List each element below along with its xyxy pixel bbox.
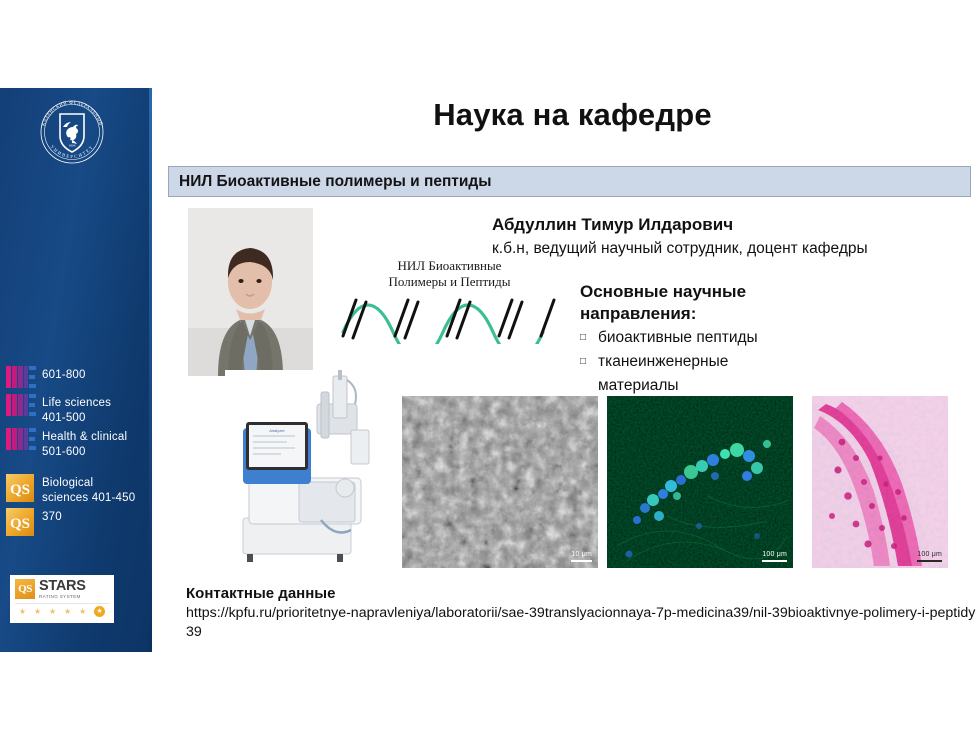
directions-heading: Основные научные направления:	[580, 281, 810, 325]
ranking-row: QS 370	[6, 507, 152, 536]
qs-stars-title: STARS	[39, 579, 86, 594]
lab-logo-line2: Полимеры и Пептиды	[332, 274, 567, 290]
qs-mark-icon: QS	[15, 579, 35, 599]
kfu-emblem: КАЗАНСКИЙ ФЕДЕРАЛЬНЫЙ УНИВЕРСИТЕТ 1804	[36, 96, 108, 168]
qs-logo-icon: QS	[6, 474, 34, 502]
ranking-label: 370	[42, 507, 62, 525]
contact-heading: Контактные данные	[186, 585, 335, 602]
portrait-photo	[188, 208, 313, 376]
qs-stars-header: QS STARS RATING SYSTEM	[15, 579, 109, 599]
qs-stars-badge: QS STARS RATING SYSTEM ★ ★ ★ ★ ★ ★	[10, 575, 114, 623]
direction-label: тканеинженерные материалы	[598, 350, 910, 398]
the-logo-icon	[6, 366, 36, 388]
person-name: Абдуллин Тимур Илдарович	[492, 215, 733, 235]
the-logo-wrap	[6, 393, 42, 416]
scalebar-label: 100 μm	[762, 550, 787, 562]
page-title: Наука на кафедре	[175, 97, 970, 133]
star-icon: ★	[34, 608, 41, 616]
svg-text:QS: QS	[10, 516, 30, 532]
rankings-list: 601-800 Life sciences 401-500	[6, 365, 152, 538]
ranking-row: Life sciences 401-500	[6, 393, 152, 425]
the-logo-icon	[6, 394, 36, 416]
direction-item: □ биоактивные пептиды	[580, 326, 910, 350]
ranking-label: Life sciences 401-500	[42, 393, 111, 425]
qs-logo-icon: QS	[6, 508, 34, 536]
sidebar-panel: КАЗАНСКИЙ ФЕДЕРАЛЬНЫЙ УНИВЕРСИТЕТ 1804	[0, 88, 152, 652]
qs-logo-wrap: QS	[6, 473, 42, 502]
lab-logo-line1: НИЛ Биоактивные	[332, 258, 567, 274]
person-role: к.б.н, ведущий научный сотрудник, доцент…	[492, 240, 868, 258]
qs-stars-wordmark: STARS RATING SYSTEM	[39, 579, 86, 599]
svg-text:QS: QS	[10, 482, 30, 498]
lab-logo: НИЛ Биоактивные Полимеры и Пептиды	[332, 258, 567, 356]
ranking-row: Health & clinical 501-600	[6, 427, 152, 459]
the-logo-wrap	[6, 365, 42, 388]
ranking-label: Biological sciences 401-450	[42, 473, 135, 505]
ranking-label: Health & clinical 501-600	[42, 427, 127, 459]
qs-logo-wrap: QS	[6, 507, 42, 536]
qs-stars-rating-row: ★ ★ ★ ★ ★ ★	[15, 603, 109, 617]
svg-text:1804: 1804	[69, 144, 76, 148]
direction-label: биоактивные пептиды	[598, 326, 910, 350]
presentation-slide: КАЗАНСКИЙ ФЕДЕРАЛЬНЫЙ УНИВЕРСИТЕТ 1804	[0, 0, 980, 735]
sem-micrograph: 10 μm	[402, 396, 598, 568]
histology-micrograph: 100 μm	[812, 396, 948, 568]
contact-url[interactable]: https://kpfu.ru/prioritetnye-napravleniy…	[186, 604, 976, 642]
qs-stars-subtitle: RATING SYSTEM	[39, 595, 86, 600]
lab-logo-wave-icon	[337, 292, 562, 344]
svg-text:Analyzer: Analyzer	[269, 428, 285, 433]
star-icon: ★	[19, 608, 26, 616]
ranking-row: 601-800	[6, 365, 152, 391]
spacer	[6, 461, 152, 473]
the-logo-wrap	[6, 427, 42, 450]
fluorescence-micrograph: 100 μm	[607, 396, 793, 568]
direction-item: □ тканеинженерные материалы	[580, 350, 910, 398]
star-icon: ★	[49, 608, 56, 616]
scalebar-label: 100 μm	[917, 550, 942, 562]
lab-instrument-photo: Analyzer	[225, 370, 385, 570]
ranking-label: 601-800	[42, 365, 86, 383]
section-bar: НИЛ Биоактивные полимеры и пептиды	[168, 166, 971, 197]
svg-text:КАЗАНСКИЙ ФЕДЕРАЛЬНЫЙ: КАЗАНСКИЙ ФЕДЕРАЛЬНЫЙ	[41, 100, 104, 126]
star-icon-lit: ★	[94, 606, 105, 617]
scalebar-label: 10 μm	[571, 550, 592, 562]
ranking-row: QS Biological sciences 401-450	[6, 473, 152, 505]
star-icon: ★	[79, 608, 86, 616]
square-bullet-icon: □	[580, 350, 598, 374]
square-bullet-icon: □	[580, 326, 598, 350]
section-bar-label: НИЛ Биоактивные полимеры и пептиды	[169, 173, 492, 191]
star-icon: ★	[64, 608, 71, 616]
the-logo-icon	[6, 428, 36, 450]
